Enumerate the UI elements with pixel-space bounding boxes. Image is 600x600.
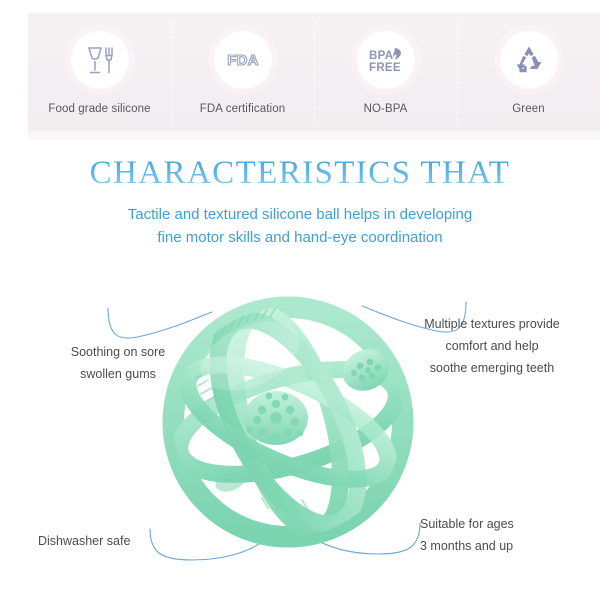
certification-badge: FDA xyxy=(214,31,272,89)
callout-soothing-gums: Soothing on sore swollen gums xyxy=(44,341,192,385)
certification-badge xyxy=(71,31,129,89)
callout-line: Suitable for ages xyxy=(420,513,580,535)
callout-suitable-ages: Suitable for ages 3 months and up xyxy=(420,513,580,557)
glass-fork-icon xyxy=(85,44,115,76)
certification-item-green: Green xyxy=(457,13,600,131)
certification-label: NO-BPA xyxy=(364,103,408,115)
callout-line: 3 months and up xyxy=(420,535,580,557)
certification-label: Food grade silicone xyxy=(48,103,150,115)
callout-line: soothe emerging teeth xyxy=(408,357,576,379)
bpa-icon-line1: BPA xyxy=(369,50,393,62)
page-title: CHARACTERISTICS THAT xyxy=(0,155,600,192)
recycle-icon xyxy=(513,44,545,76)
certification-item-fda: FDA FDA certification xyxy=(171,13,314,131)
callout-line: Soothing on sore xyxy=(44,341,192,363)
certification-item-food-grade: Food grade silicone xyxy=(28,13,171,131)
callout-dishwasher-safe: Dishwasher safe xyxy=(38,530,188,552)
leader-line-top-left xyxy=(108,308,212,338)
page-subtitle-line2: fine motor skills and hand-eye coordinat… xyxy=(0,226,600,249)
certification-strip: Food grade silicone FDA FDA certificatio… xyxy=(28,13,600,131)
certification-label: FDA certification xyxy=(200,103,285,115)
silicone-teether-ball xyxy=(168,299,408,546)
callout-line: swollen gums xyxy=(44,363,192,385)
bpa-free-icon: BPA FREE xyxy=(365,45,407,75)
page-subtitle: Tactile and textured silicone ball helps… xyxy=(0,203,600,249)
certification-label: Green xyxy=(512,103,544,115)
certification-strip-footer xyxy=(28,131,600,140)
certification-badge: BPA FREE xyxy=(357,31,415,89)
callout-line: Multiple textures provide xyxy=(408,313,576,335)
bpa-icon-line2: FREE xyxy=(369,62,401,74)
texture-hub-center xyxy=(244,391,308,445)
certification-badge xyxy=(500,31,558,89)
certification-item-bpa-free: BPA FREE NO-BPA xyxy=(314,13,457,131)
page-subtitle-line1: Tactile and textured silicone ball helps… xyxy=(0,203,600,226)
fda-icon: FDA xyxy=(223,48,263,72)
callout-line: comfort and help xyxy=(408,335,576,357)
callout-line: Dishwasher safe xyxy=(38,530,188,552)
fda-icon-text: FDA xyxy=(227,52,258,69)
callout-multiple-textures: Multiple textures provide comfort and he… xyxy=(408,313,576,379)
